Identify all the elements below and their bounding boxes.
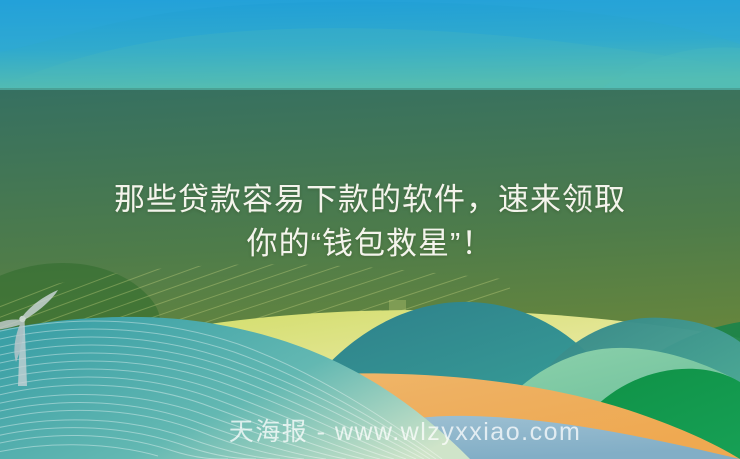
sky-band bbox=[0, 0, 740, 90]
headline-line-1: 那些贷款容易下款的软件，速来领取 bbox=[0, 178, 740, 222]
poster-canvas: 那些贷款容易下款的软件，速来领取 你的“钱包救星”！ 天海报 - www.wlz… bbox=[0, 0, 740, 459]
headline-line-2: 你的“钱包救星”！ bbox=[0, 222, 740, 266]
watermark-text: 天海报 - www.wlzyxxiao.com bbox=[0, 415, 740, 449]
poster-headline: 那些贷款容易下款的软件，速来领取 你的“钱包救星”！ bbox=[0, 178, 740, 266]
